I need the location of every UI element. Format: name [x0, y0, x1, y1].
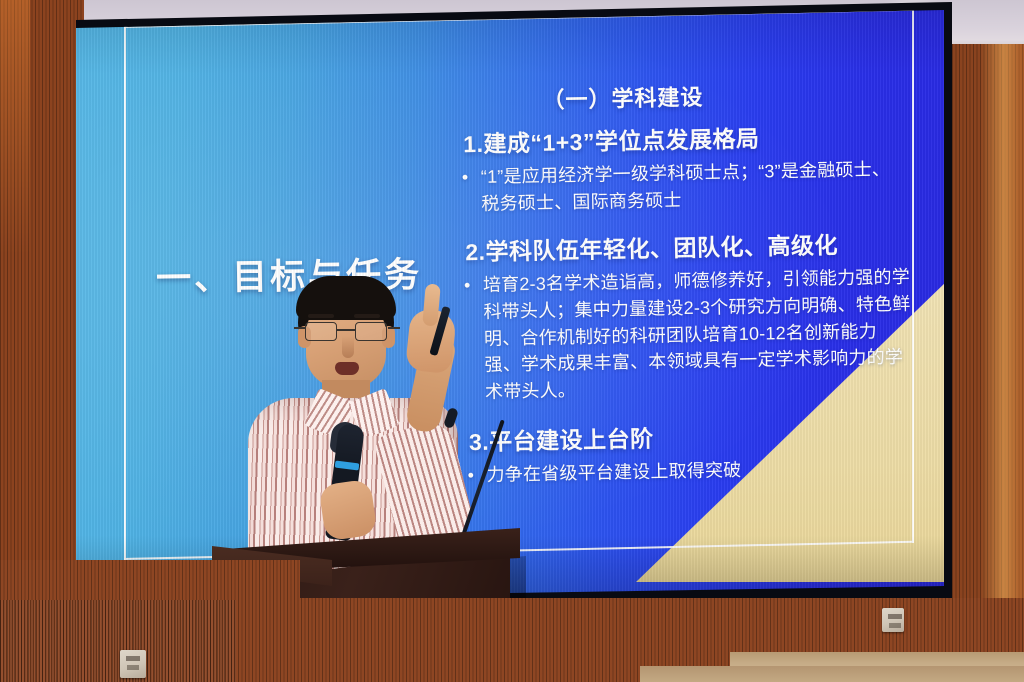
glasses-temple-right [388, 327, 400, 329]
glasses-temple-left [294, 327, 306, 329]
eyebrow-left [308, 314, 334, 318]
slide-heading-3: 3.平台建设上台阶 [469, 415, 914, 458]
slide-section-title: （一）学科建设 [542, 76, 907, 115]
bullet-text: “1”是应用经济学一级学科硕士点；“3”是金融硕士、税务硕士、国际商务硕士 [481, 156, 909, 217]
wall-outlet-left [120, 650, 146, 678]
presentation-scene: 一、目标与任务 （一）学科建设 1.建成“1+3”学位点发展格局 • “1”是应… [0, 0, 1024, 682]
eyebrow-right [354, 314, 380, 318]
glasses-bridge [337, 329, 355, 331]
slide-heading-1: 1.建成“1+3”学位点发展格局 [463, 117, 908, 160]
slide-content: 一、目标与任务 （一）学科建设 1.建成“1+3”学位点发展格局 • “1”是应… [76, 2, 946, 608]
slide-bullet-3-1: • 力争在省级平台建设上取得突破 [467, 454, 913, 489]
wall-outlet-right [882, 608, 904, 632]
bullet-text: 力争在省级平台建设上取得突破 [486, 454, 913, 489]
slide-body-column: （一）学科建设 1.建成“1+3”学位点发展格局 • “1”是应用经济学一级学科… [454, 76, 914, 494]
nose [342, 336, 354, 358]
lens-right [355, 322, 387, 341]
hand-left [318, 479, 377, 542]
mouth [335, 362, 359, 375]
slide-heading-2: 2.学科队伍年轻化、团队化、高级化 [465, 225, 910, 268]
bullet-glyph-icon: • [462, 164, 482, 218]
wall-right-glow [980, 44, 1024, 644]
lens-left [305, 322, 337, 341]
wall-lower-shadow [0, 600, 236, 682]
floor-front [640, 666, 1024, 682]
slide-bullet-1-1: • “1”是应用经济学一级学科硕士点；“3”是金融硕士、税务硕士、国际商务硕士 [462, 156, 909, 218]
bullet-text: 培育2-3名学术造诣高，师德修养好，引领能力强的学科带头人；集中力量建设2-3个… [483, 264, 912, 405]
led-display: 一、目标与任务 （一）学科建设 1.建成“1+3”学位点发展格局 • “1”是应… [76, 2, 946, 608]
slide-bullet-2-1: • 培育2-3名学术造诣高，师德修养好，引领能力强的学科带头人；集中力量建设2-… [464, 264, 912, 406]
